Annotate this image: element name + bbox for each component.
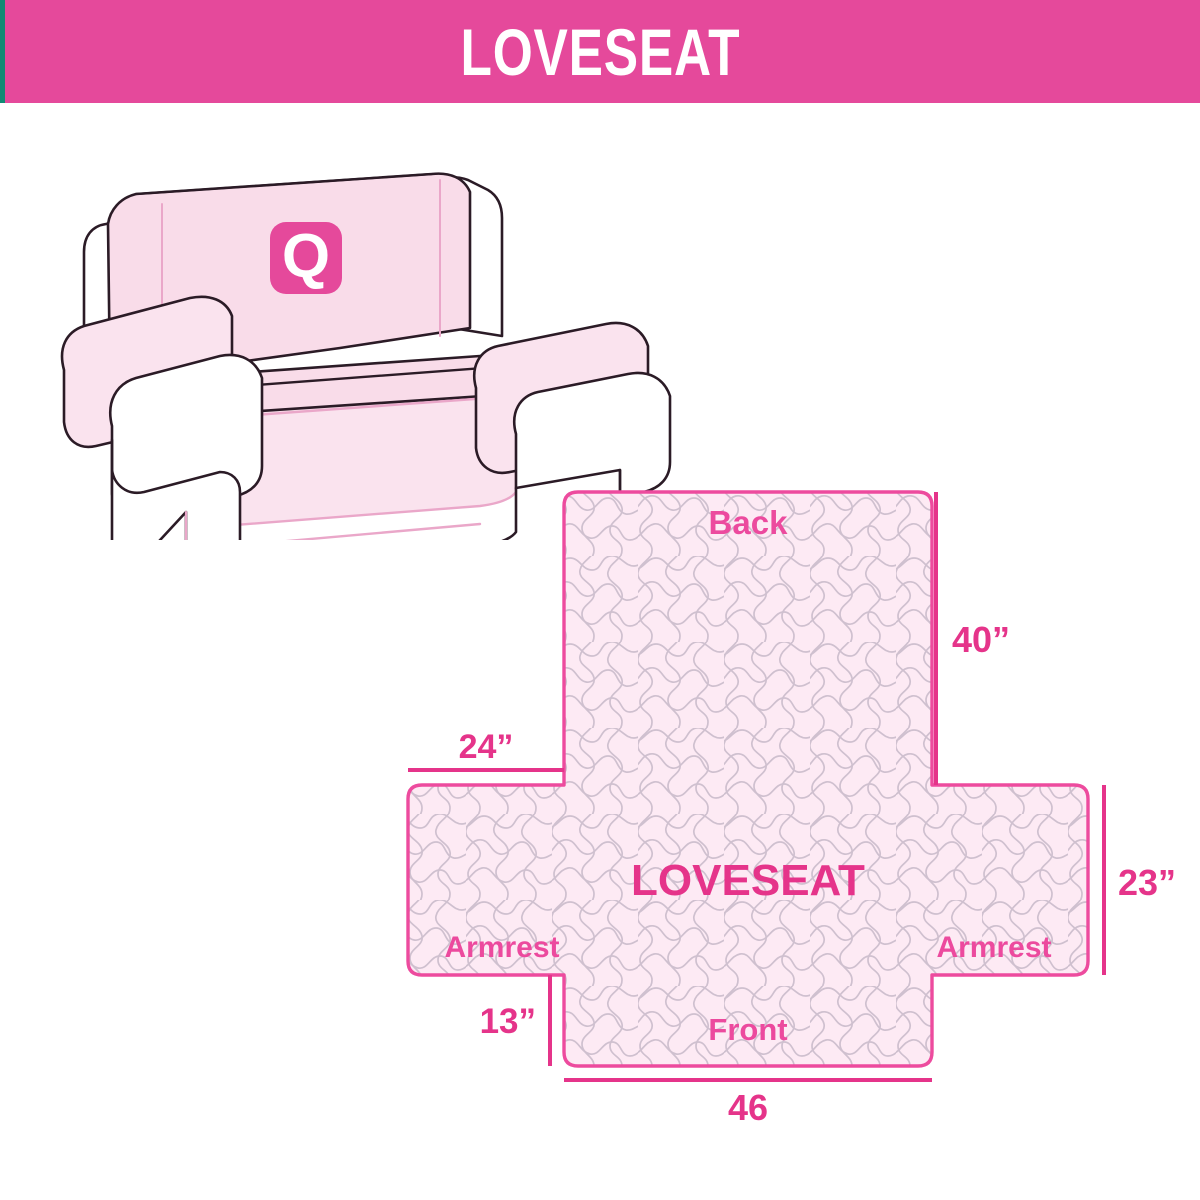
panel-label-back: Back [709, 504, 789, 541]
edge-accent-stripe [0, 0, 5, 103]
panel-label-armrest-left: Armrest [444, 931, 559, 964]
dimension-label-armrest-width: 24” [459, 728, 514, 766]
dimension-label-armrest-height: 23” [1118, 862, 1176, 903]
panel-label-armrest-right: Armrest [936, 931, 1051, 964]
dimension-label-back-height: 40” [952, 619, 1010, 660]
panel-label-center: LOVESEAT [631, 856, 865, 905]
page-title: LOVESEAT [460, 19, 740, 85]
dimension-label-total-width: 46 [728, 1087, 768, 1128]
svg-text:Q: Q [282, 222, 330, 291]
header-banner: LOVESEAT [0, 0, 1200, 103]
dimension-label-front-height: 13” [480, 1002, 536, 1041]
panel-label-front: Front [708, 1012, 787, 1047]
flat-pattern-diagram: Back LOVESEAT Armrest Armrest Front 40” … [380, 470, 1200, 1130]
cover-cross-shape [408, 492, 1088, 1066]
q-logo-badge: Q [270, 222, 342, 294]
